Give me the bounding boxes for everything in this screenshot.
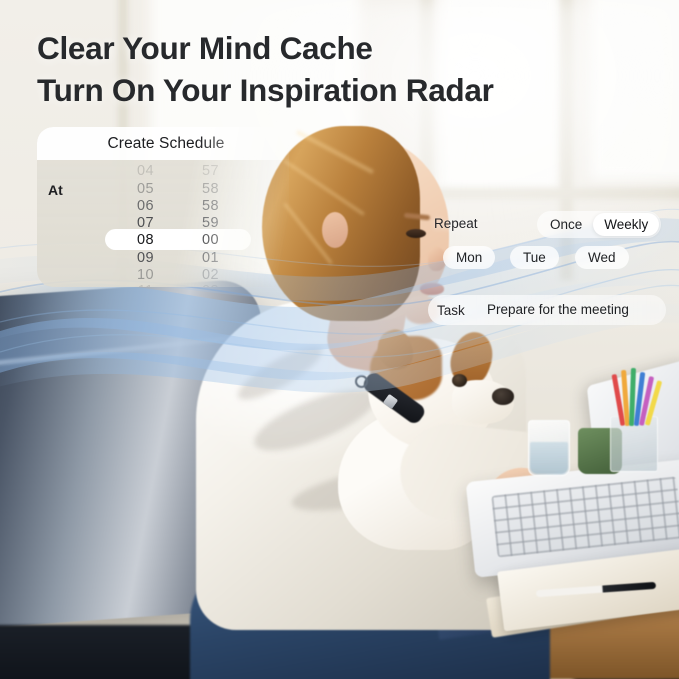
day-pill-tue[interactable]: Tue (510, 246, 559, 269)
minute-option[interactable]: 57 (178, 162, 243, 180)
hour-option[interactable]: 06 (113, 197, 178, 215)
hour-column[interactable]: 04 05 06 07 08 09 10 11 (113, 160, 178, 287)
day-pill-wed[interactable]: Wed (575, 246, 629, 269)
card-body: At 04 05 06 07 08 09 10 11 57 (37, 160, 289, 287)
create-schedule-card: Create Schedule At 04 05 06 07 08 09 10 … (37, 127, 289, 287)
hour-option-selected[interactable]: 08 (113, 231, 178, 249)
minute-option[interactable]: 58 (178, 180, 243, 198)
page-title: Clear Your Mind Cache Turn On Your Inspi… (37, 28, 657, 112)
time-picker[interactable]: 04 05 06 07 08 09 10 11 57 58 58 59 (113, 160, 243, 287)
minute-option[interactable]: 58 (178, 197, 243, 215)
headline-line-2: Turn On Your Inspiration Radar (37, 70, 657, 112)
day-pill-mon[interactable]: Mon (443, 246, 495, 269)
repeat-option-weekly[interactable]: Weekly (593, 213, 659, 236)
card-title: Create Schedule (102, 135, 225, 153)
repeat-options-group[interactable]: Once Weekly (537, 211, 661, 238)
promo-image: Clear Your Mind Cache Turn On Your Inspi… (0, 0, 679, 679)
hour-option[interactable]: 07 (113, 214, 178, 232)
repeat-option-once[interactable]: Once (539, 213, 593, 236)
task-label: Task (437, 303, 465, 318)
task-value[interactable]: Prepare for the meeting (487, 302, 629, 317)
minute-option[interactable]: 01 (178, 249, 243, 267)
repeat-label: Repeat (434, 216, 478, 231)
hour-option[interactable]: 05 (113, 180, 178, 198)
minute-option[interactable]: 03 (178, 282, 243, 287)
minute-option[interactable]: 59 (178, 214, 243, 232)
at-label: At (48, 182, 63, 198)
minute-option-selected[interactable]: 00 (178, 231, 243, 249)
minute-column[interactable]: 57 58 58 59 00 01 02 03 (178, 160, 243, 287)
card-header: Create Schedule (37, 127, 289, 160)
ui-overlay: Clear Your Mind Cache Turn On Your Inspi… (0, 0, 679, 679)
hour-option[interactable]: 04 (113, 162, 178, 180)
hour-option[interactable]: 09 (113, 249, 178, 267)
headline-line-1: Clear Your Mind Cache (37, 30, 373, 66)
hour-option[interactable]: 11 (113, 282, 178, 287)
